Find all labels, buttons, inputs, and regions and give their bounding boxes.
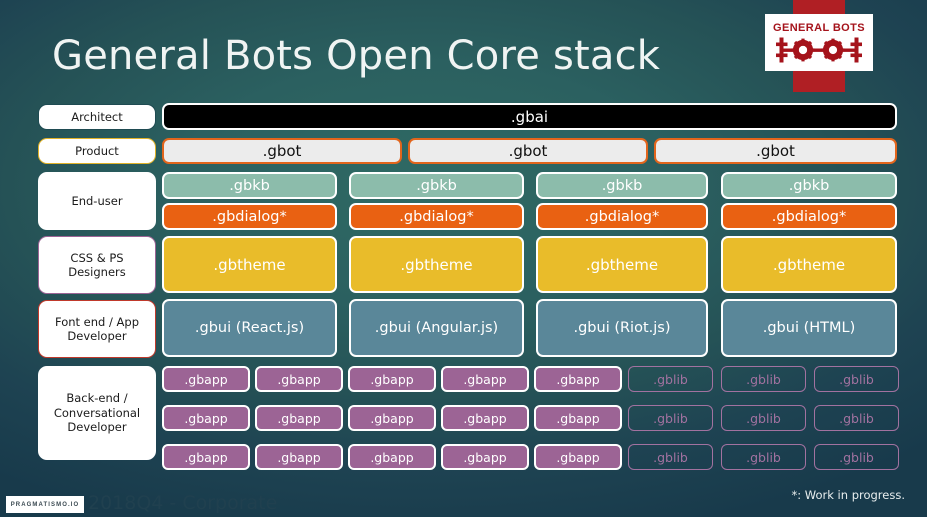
- stack-cell-gbai[interactable]: .gbai: [162, 103, 897, 130]
- stack-cell-gblib[interactable]: .gblib: [814, 405, 899, 431]
- stack-cell-label: .gbot: [756, 142, 795, 160]
- role-label: Product: [75, 144, 119, 158]
- stack-cell-label: .gblib: [839, 450, 874, 465]
- role-box-css-ps-designers[interactable]: CSS & PS Designers: [38, 236, 156, 294]
- stack-cell-label: .gbui (HTML): [763, 320, 856, 336]
- stack-cell-gbdialog[interactable]: .gbdialog*: [162, 203, 337, 230]
- stack-cell-gblib[interactable]: .gblib: [628, 444, 713, 470]
- stack-cell-label: .gbapp: [556, 411, 599, 426]
- stack-cell-gbtheme[interactable]: .gbtheme: [349, 236, 524, 293]
- stack-cell-gbkb[interactable]: .gbkb: [162, 172, 337, 199]
- stack-cell-gblib[interactable]: .gblib: [721, 366, 806, 392]
- stack-cell-label: .gbapp: [277, 372, 320, 387]
- stack-cell-label: .gbapp: [370, 450, 413, 465]
- stack-cell-label: .gbai: [511, 108, 548, 126]
- stack-cell-label: .gbkb: [789, 178, 830, 194]
- stack-cell-label: .gbkb: [229, 178, 270, 194]
- stack-cell-label: .gblib: [839, 411, 874, 426]
- stack-cell-gbapp[interactable]: .gbapp: [348, 405, 436, 431]
- stack-cell-gblib[interactable]: .gblib: [721, 444, 806, 470]
- stack-cell-gbdialog[interactable]: .gbdialog*: [721, 203, 897, 230]
- stack-cell-label: .gblib: [653, 411, 688, 426]
- stack-cell-gblib[interactable]: .gblib: [628, 366, 713, 392]
- stack-cell-gbapp[interactable]: .gbapp: [441, 366, 529, 392]
- stack-cell-label: .gbtheme: [213, 256, 285, 274]
- pragmatismo-wordmark: PRAGMATISMO.IO: [11, 502, 80, 508]
- stack-cell-gbtheme[interactable]: .gbtheme: [721, 236, 897, 293]
- stack-cell-label: .gblib: [653, 372, 688, 387]
- stack-cell-label: .gbui (Riot.js): [573, 320, 670, 336]
- stack-cell-gbtheme[interactable]: .gbtheme: [536, 236, 708, 293]
- stack-cell-label: .gblib: [653, 450, 688, 465]
- role-label: End-user: [71, 194, 122, 208]
- stack-cell-gbot[interactable]: .gbot: [408, 138, 648, 164]
- stack-cell-label: .gbapp: [370, 372, 413, 387]
- stack-cell-label: .gbkb: [602, 178, 643, 194]
- role-sidebar: ArchitectProductEnd-userCSS & PS Designe…: [38, 100, 156, 482]
- stack-cell-label: .gbdialog*: [585, 209, 660, 225]
- stack-cell-gbdialog[interactable]: .gbdialog*: [349, 203, 524, 230]
- stack-cell-label: .gbui (React.js): [195, 320, 304, 336]
- footnote-work-in-progress: *: Work in progress.: [0, 488, 905, 502]
- role-box-back-end-conversational-developer[interactable]: Back-end / Conversational Developer: [38, 366, 156, 460]
- stack-diagram: ArchitectProductEnd-userCSS & PS Designe…: [0, 100, 927, 482]
- stack-cell-label: .gbot: [509, 142, 548, 160]
- stack-cell-gbot[interactable]: .gbot: [654, 138, 897, 164]
- stack-cell-gbapp[interactable]: .gbapp: [534, 444, 622, 470]
- stack-cell-gbapp[interactable]: .gbapp: [441, 405, 529, 431]
- role-label: CSS & PS Designers: [68, 251, 126, 280]
- stack-cell-gbkb[interactable]: .gbkb: [721, 172, 897, 199]
- stack-cell-gbtheme[interactable]: .gbtheme: [162, 236, 337, 293]
- stack-cell-label: .gbapp: [184, 372, 227, 387]
- stack-cell-gblib[interactable]: .gblib: [628, 405, 713, 431]
- stack-cell-label: .gbapp: [277, 411, 320, 426]
- stack-cell-label: .gbdialog*: [212, 209, 287, 225]
- role-box-product[interactable]: Product: [38, 138, 156, 164]
- stack-cell-gbui[interactable]: .gbui (Angular.js): [349, 299, 524, 357]
- stack-cell-label: .gbui (Angular.js): [375, 320, 498, 336]
- stack-cell-gblib[interactable]: .gblib: [721, 405, 806, 431]
- stack-cell-gbapp[interactable]: .gbapp: [162, 405, 250, 431]
- slide-canvas: GENERAL BOTS: [0, 0, 927, 517]
- stack-cell-gbapp[interactable]: .gbapp: [162, 366, 250, 392]
- stack-cell-label: .gbtheme: [773, 256, 845, 274]
- role-label: Back-end / Conversational Developer: [54, 391, 140, 434]
- stack-cell-gblib[interactable]: .gblib: [814, 366, 899, 392]
- stack-cell-gbapp[interactable]: .gbapp: [348, 366, 436, 392]
- stack-cell-label: .gbot: [263, 142, 302, 160]
- stack-cell-label: .gbapp: [370, 411, 413, 426]
- stack-cell-gbot[interactable]: .gbot: [162, 138, 402, 164]
- role-box-architect[interactable]: Architect: [38, 104, 156, 130]
- stack-cell-label: .gbapp: [463, 372, 506, 387]
- stack-cell-label: .gbapp: [277, 450, 320, 465]
- logo-wordmark: GENERAL BOTS: [773, 23, 865, 34]
- stack-cell-gbapp[interactable]: .gbapp: [162, 444, 250, 470]
- stack-cell-gbapp[interactable]: .gbapp: [255, 366, 343, 392]
- stack-cell-label: .gblib: [839, 372, 874, 387]
- stack-cell-gblib[interactable]: .gblib: [814, 444, 899, 470]
- stack-cell-gbui[interactable]: .gbui (Riot.js): [536, 299, 708, 357]
- stack-cell-label: .gbapp: [556, 372, 599, 387]
- stack-cell-gbapp[interactable]: .gbapp: [441, 444, 529, 470]
- stack-cell-gbkb[interactable]: .gbkb: [536, 172, 708, 199]
- stack-cell-label: .gblib: [746, 411, 781, 426]
- role-label: Font end / App Developer: [55, 315, 139, 344]
- stack-cell-gbui[interactable]: .gbui (React.js): [162, 299, 337, 357]
- stack-cell-gbdialog[interactable]: .gbdialog*: [536, 203, 708, 230]
- stack-cell-label: .gblib: [746, 372, 781, 387]
- stack-cell-gbkb[interactable]: .gbkb: [349, 172, 524, 199]
- stack-cell-label: .gbapp: [184, 450, 227, 465]
- stack-cell-gbapp[interactable]: .gbapp: [348, 444, 436, 470]
- general-bots-logo: GENERAL BOTS: [765, 14, 873, 71]
- stack-cell-label: .gbdialog*: [772, 209, 847, 225]
- page-title: General Bots Open Core stack: [52, 33, 660, 79]
- stack-cell-label: .gbkb: [416, 178, 457, 194]
- stack-cell-label: .gbapp: [463, 411, 506, 426]
- stack-cell-label: .gbdialog*: [399, 209, 474, 225]
- stack-cell-gbui[interactable]: .gbui (HTML): [721, 299, 897, 357]
- stack-cell-label: .gblib: [746, 450, 781, 465]
- stack-cell-label: .gbtheme: [586, 256, 658, 274]
- stack-cell-label: .gbapp: [184, 411, 227, 426]
- stack-cell-label: .gbapp: [556, 450, 599, 465]
- stack-cell-gbapp[interactable]: .gbapp: [255, 405, 343, 431]
- role-box-font-end-app-developer[interactable]: Font end / App Developer: [38, 300, 156, 358]
- stack-cell-label: .gbapp: [463, 450, 506, 465]
- stack-cell-label: .gbtheme: [400, 256, 472, 274]
- stack-cell-gbapp[interactable]: .gbapp: [534, 366, 622, 392]
- stack-cell-gbapp[interactable]: .gbapp: [534, 405, 622, 431]
- role-label: Architect: [71, 110, 123, 124]
- stack-cell-gbapp[interactable]: .gbapp: [255, 444, 343, 470]
- role-box-end-user[interactable]: End-user: [38, 172, 156, 230]
- two-gears-icon: [776, 37, 862, 63]
